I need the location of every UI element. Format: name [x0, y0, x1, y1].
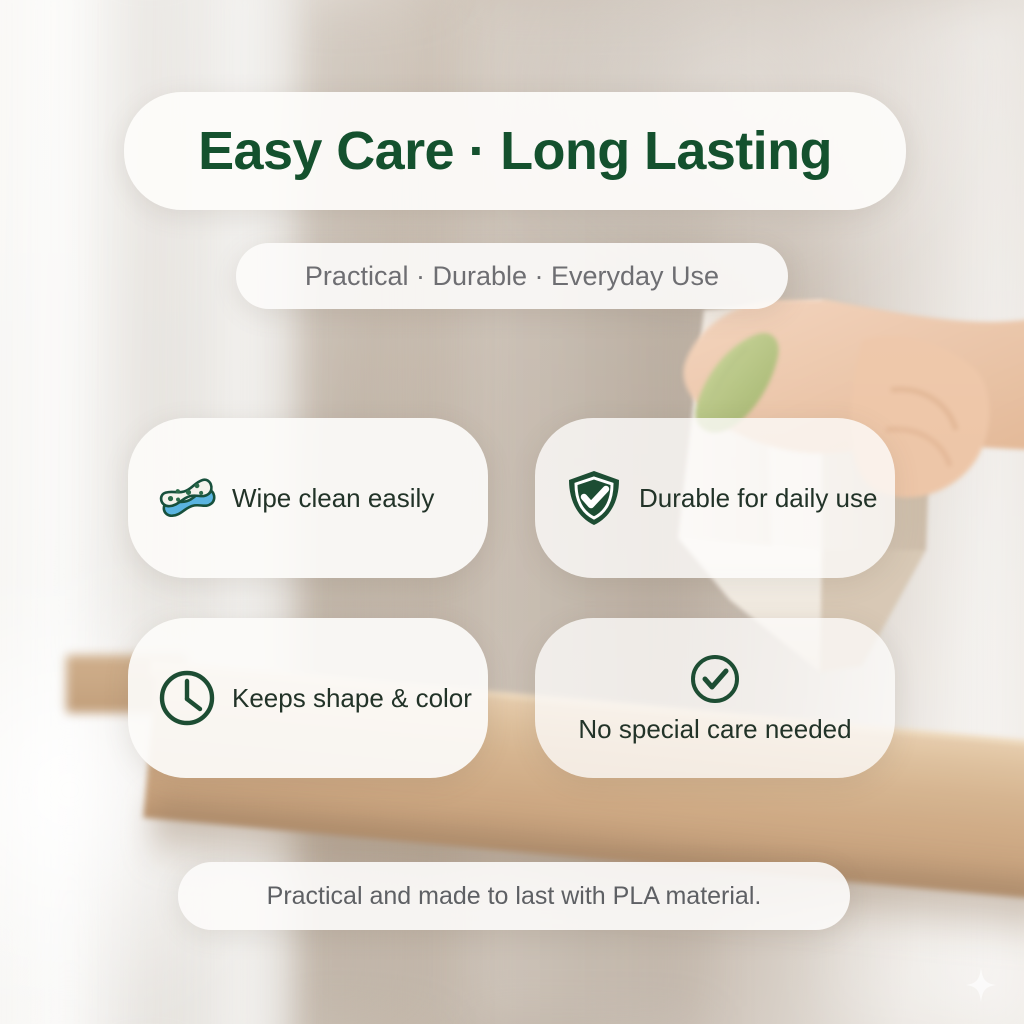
- feature-card-no-special-care[interactable]: No special care needed: [535, 618, 895, 778]
- feature-card-wipe-clean[interactable]: Wipe clean easily: [128, 418, 488, 578]
- feature-card-durable[interactable]: Durable for daily use: [535, 418, 895, 578]
- feature-label: Keeps shape & color: [232, 683, 472, 714]
- feature-label: Wipe clean easily: [232, 483, 434, 514]
- subtitle-card: Practical · Durable · Everyday Use: [236, 243, 788, 309]
- feature-label: Durable for daily use: [639, 483, 877, 514]
- sponge-icon: [156, 467, 218, 529]
- title-card: Easy Care · Long Lasting: [124, 92, 906, 210]
- footer-caption-card: Practical and made to last with PLA mate…: [178, 862, 850, 930]
- footer-caption: Practical and made to last with PLA mate…: [267, 882, 762, 911]
- page-subtitle: Practical · Durable · Everyday Use: [305, 261, 719, 292]
- page-title: Easy Care · Long Lasting: [198, 120, 832, 182]
- shield-check-icon: [563, 467, 625, 529]
- sparkle-icon: [966, 968, 996, 1002]
- promo-graphic: Easy Care · Long Lasting Practical · Dur…: [0, 0, 1024, 1024]
- feature-label: No special care needed: [578, 714, 851, 745]
- circle-check-icon: [688, 652, 742, 706]
- clock-icon: [156, 667, 218, 729]
- feature-card-keeps-shape[interactable]: Keeps shape & color: [128, 618, 488, 778]
